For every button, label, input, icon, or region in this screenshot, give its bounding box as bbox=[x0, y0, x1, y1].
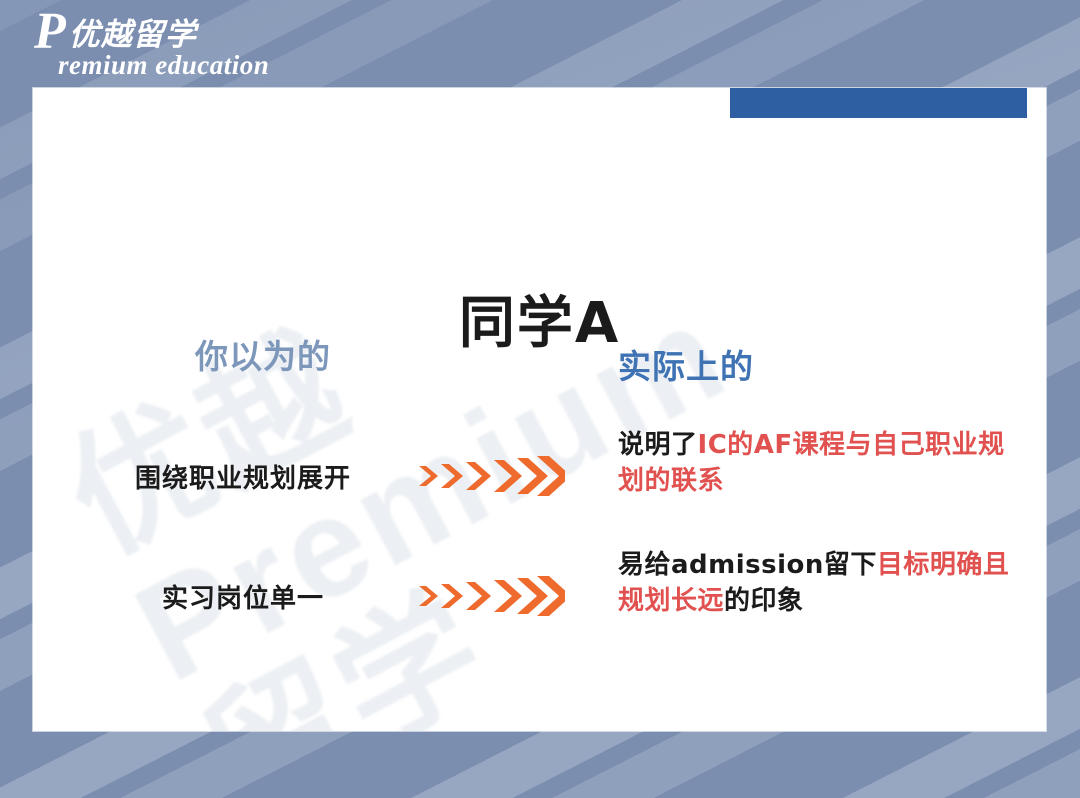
accent-bar bbox=[730, 88, 1027, 118]
chevron-right-arrows-icon bbox=[415, 574, 565, 618]
content-card: 优越 Premium 留学 同学A 你以为的 实际上的 围绕职业规划展开 bbox=[33, 88, 1046, 731]
logo-tagline: remium education bbox=[58, 50, 414, 81]
chevron-right-arrows-icon bbox=[415, 454, 565, 498]
row-right-segment: 说明了 bbox=[618, 430, 698, 460]
watermark-text: 优越 Premium 留学 bbox=[45, 90, 960, 731]
slide-canvas: P 优越留学 remium education 优越 Premium 留学 同学… bbox=[0, 0, 1080, 798]
column-header-actual: 实际上的 bbox=[618, 340, 754, 388]
row-right-segment: 的印象 bbox=[724, 586, 804, 616]
logo-chinese-name: 优越留学 bbox=[69, 20, 197, 51]
row-right-text: 易给admission留下目标明确且规划长远的印象 bbox=[618, 548, 1018, 620]
logo-primary-row: P 优越留学 bbox=[34, 10, 414, 54]
row-left-label: 围绕职业规划展开 bbox=[93, 458, 393, 495]
row-left-label: 实习岗位单一 bbox=[93, 578, 393, 615]
card-inner: 优越 Premium 留学 同学A 你以为的 实际上的 围绕职业规划展开 bbox=[33, 88, 1046, 731]
row-right-segment: 易给admission留下 bbox=[618, 550, 877, 580]
brand-logo: P 优越留学 remium education bbox=[34, 10, 414, 82]
row-right-text: 说明了IC的AF课程与自己职业规划的联系 bbox=[618, 428, 1018, 500]
watermark-line-3: 留学 bbox=[183, 350, 923, 731]
logo-initial-p: P bbox=[34, 10, 65, 54]
page-title: 同学A bbox=[33, 278, 1046, 359]
column-header-expected: 你以为的 bbox=[195, 330, 331, 378]
